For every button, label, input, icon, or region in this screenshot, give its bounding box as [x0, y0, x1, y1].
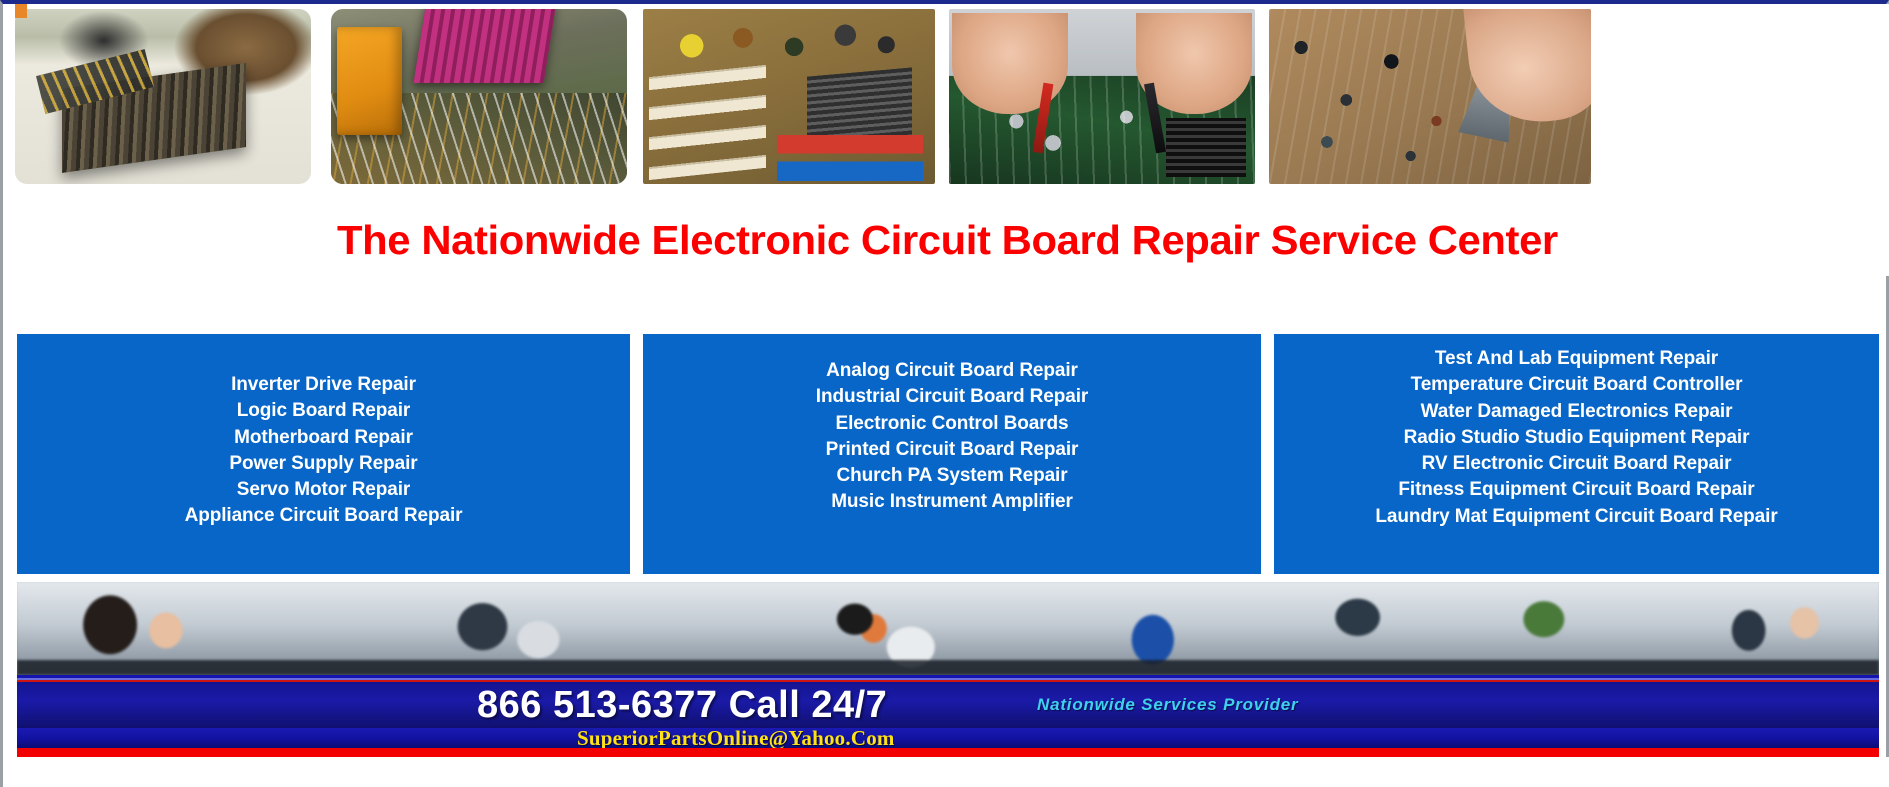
service-item[interactable]: Inverter Drive Repair: [17, 372, 630, 398]
page-root: The Nationwide Electronic Circuit Board …: [0, 0, 1889, 787]
phone-number[interactable]: 866 513-6377 Call 24/7: [477, 684, 887, 727]
circuit-board-repair-bench-photo: [15, 9, 311, 184]
email-address[interactable]: SuperiorPartsOnline@Yahoo.Com: [577, 726, 895, 751]
phone-row: 866 513-6377 Call 24/7 Nationwide Servic…: [17, 682, 1879, 728]
service-item[interactable]: Music Instrument Amplifier: [643, 489, 1261, 515]
expansion-slots-board-photo: [643, 9, 935, 184]
multimeter-probes-photo: [949, 9, 1255, 184]
service-item[interactable]: Church PA System Repair: [643, 463, 1261, 489]
service-item[interactable]: Fitness Equipment Circuit Board Repair: [1274, 477, 1879, 503]
service-item[interactable]: Water Damaged Electronics Repair: [1274, 399, 1879, 425]
footer-whitespace: [3, 757, 1889, 787]
service-item[interactable]: Test And Lab Equipment Repair: [1274, 346, 1879, 372]
service-item[interactable]: RV Electronic Circuit Board Repair: [1274, 451, 1879, 477]
service-item[interactable]: Radio Studio Studio Equipment Repair: [1274, 425, 1879, 451]
service-item[interactable]: Electronic Control Boards: [643, 411, 1261, 437]
service-item[interactable]: Motherboard Repair: [17, 425, 630, 451]
services-column-middle: Analog Circuit Board Repair Industrial C…: [643, 334, 1261, 574]
service-item[interactable]: Power Supply Repair: [17, 451, 630, 477]
email-row: SuperiorPartsOnline@Yahoo.Com: [17, 728, 1879, 748]
service-item[interactable]: Analog Circuit Board Repair: [643, 358, 1261, 384]
expansion-slots-detail: [649, 62, 766, 179]
office-scene-detail: [17, 582, 1879, 675]
tagline-text: Nationwide Services Provider: [1037, 695, 1298, 715]
service-item[interactable]: Industrial Circuit Board Repair: [643, 384, 1261, 410]
page-title: The Nationwide Electronic Circuit Board …: [337, 217, 1558, 264]
services-column-right: Test And Lab Equipment Repair Temperatur…: [1274, 334, 1879, 574]
service-item[interactable]: Servo Motor Repair: [17, 477, 630, 503]
probe-board-heatsink-detail: [1166, 118, 1246, 178]
connectors-detail: [777, 135, 923, 181]
top-photo-strip: [3, 4, 1889, 218]
orange-corner-marker: [15, 4, 27, 18]
motherboard-closeup-photo: [331, 9, 627, 184]
call-center-office-photo: [17, 582, 1879, 675]
footer-red-rule: [17, 748, 1879, 757]
services-column-left: Inverter Drive Repair Logic Board Repair…: [17, 334, 630, 574]
service-item[interactable]: Laundry Mat Equipment Circuit Board Repa…: [1274, 504, 1879, 530]
services-panels: Inverter Drive Repair Logic Board Repair…: [17, 334, 1879, 574]
capacitors-detail: [661, 14, 918, 67]
headline-band: The Nationwide Electronic Circuit Board …: [3, 204, 1889, 276]
service-item[interactable]: Logic Board Repair: [17, 398, 630, 424]
component-desoldering-photo: [1269, 9, 1591, 184]
service-item[interactable]: Appliance Circuit Board Repair: [17, 503, 630, 529]
motherboard-pcb-surface: [331, 93, 627, 184]
service-item[interactable]: Temperature Circuit Board Controller: [1274, 372, 1879, 398]
service-item[interactable]: Printed Circuit Board Repair: [643, 437, 1261, 463]
contact-banner: 866 513-6377 Call 24/7 Nationwide Servic…: [17, 675, 1879, 757]
